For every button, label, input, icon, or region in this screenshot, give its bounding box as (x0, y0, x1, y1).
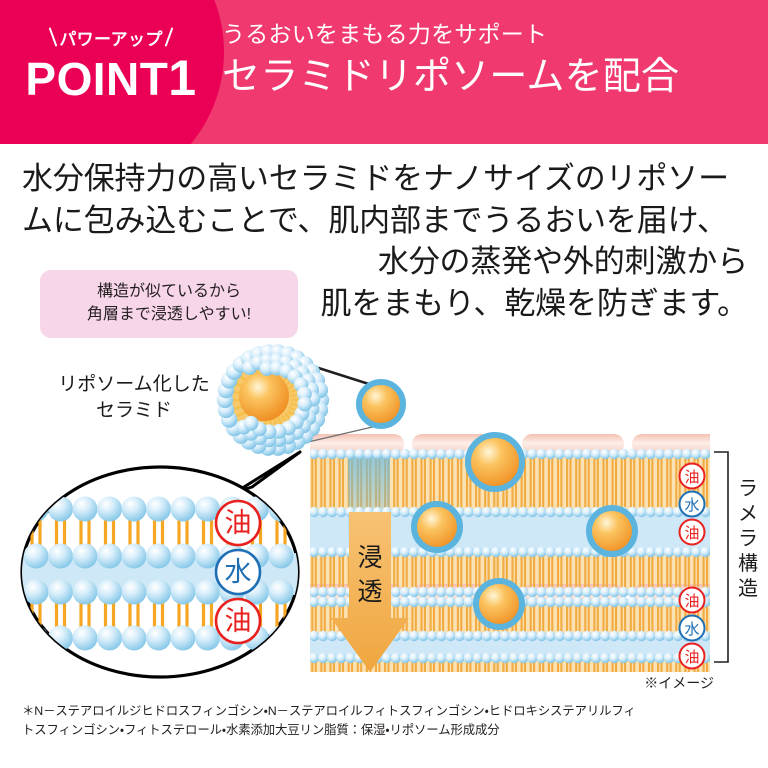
image-note: ※イメージ (644, 675, 714, 691)
marker-oil-1: 油 (680, 464, 705, 489)
marker-water-2: 水 (680, 616, 705, 641)
lamellar-bracket (714, 452, 728, 662)
marker-oil-4: 油 (680, 644, 705, 669)
magnifier-marker-water: 水 (216, 550, 260, 594)
marker-water-1: 水 (680, 492, 705, 517)
lamellar-structure-diagram: 浸 透 油 水 油 油 (302, 432, 758, 672)
marker-oil-3: 油 (680, 588, 705, 613)
magnifier-marker-oil-top: 油 (216, 501, 260, 545)
svg-text:水: 水 (225, 557, 252, 587)
svg-text:構: 構 (738, 552, 758, 575)
liposome-simple-circle (359, 382, 403, 426)
footnote-line-1: ＊N－ステアロイルジヒドロスフィンゴシン・N－ステアロイルフィトスフィンゴシン・… (22, 702, 752, 721)
penetration-arrow-label-2: 透 (357, 578, 382, 606)
svg-text:油: 油 (225, 508, 252, 538)
magnifier-markers: 油 水 油 (216, 501, 260, 643)
infographic-page: パワーアップ POINT1 うるおいをまもる力をサポート セラミドリポソームを配… (0, 0, 768, 768)
svg-text:油: 油 (225, 606, 252, 636)
svg-text:油: 油 (684, 525, 699, 542)
svg-text:ラ: ラ (738, 528, 758, 550)
lamellar-structure-label: ラ メ ラ 構 造 (738, 478, 758, 600)
footnote-line-2: トスフィンゴシン・フィトステロール・水素添加大豆リン脂質：保湿・リポソーム形成成… (22, 721, 752, 740)
bubble-tail (236, 452, 300, 492)
svg-text:油: 油 (684, 649, 699, 666)
marker-oil-2: 油 (680, 520, 705, 545)
penetration-arrow-label-1: 浸 (357, 544, 382, 572)
footnote: ＊N－ステアロイルジヒドロスフィンゴシン・N－ステアロイルフィトスフィンゴシン・… (22, 702, 752, 739)
magnifier-bubble: 油 水 油 (22, 452, 300, 677)
magnifier-marker-oil-bottom: 油 (216, 599, 260, 643)
svg-text:水: 水 (684, 497, 699, 514)
svg-text:造: 造 (738, 577, 758, 600)
svg-text:ラ: ラ (738, 478, 758, 500)
diagram-artwork: 浸 透 油 水 油 油 (0, 0, 768, 768)
svg-text:水: 水 (684, 621, 699, 638)
svg-text:油: 油 (684, 469, 699, 486)
svg-text:油: 油 (684, 593, 699, 610)
liposome-sphere (217, 344, 329, 456)
svg-text:メ: メ (738, 503, 758, 525)
